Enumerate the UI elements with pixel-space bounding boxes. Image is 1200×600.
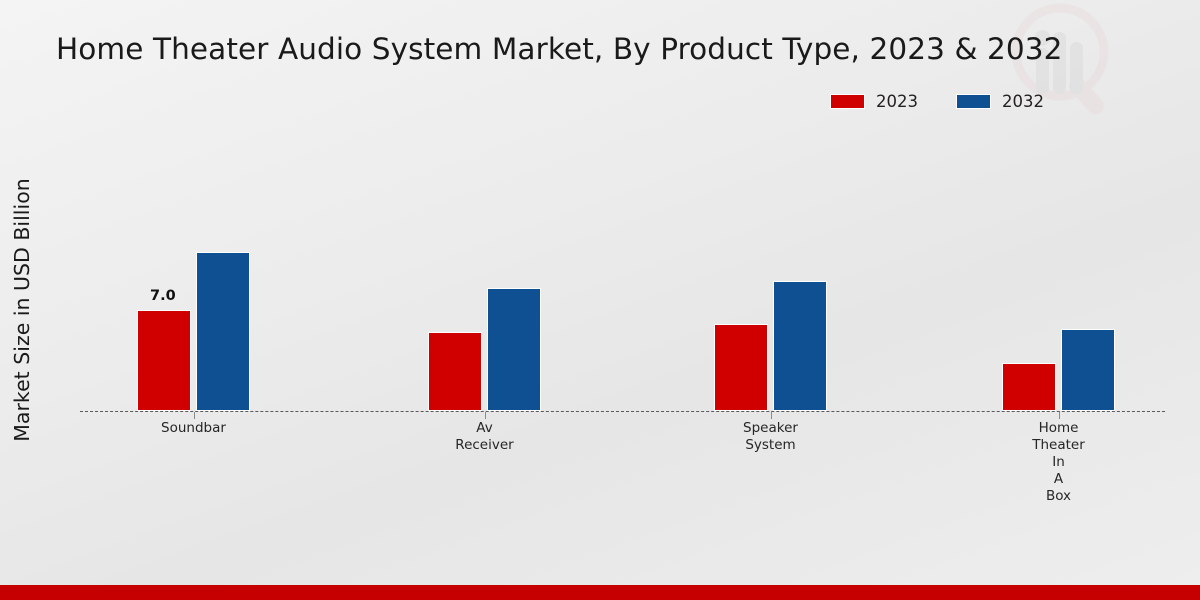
x-axis-label-home-theater-in-a-box: HomeTheaterInABox [969,420,1149,505]
x-axis-label-line: Av [395,420,575,437]
x-axis-label-soundbar: Soundbar [104,420,284,437]
x-axis-label-av-receiver: AvReceiver [395,420,575,454]
x-axis-label-line: Speaker [681,420,861,437]
bar-value-label: 7.0 [150,288,176,304]
chart-figure: Home Theater Audio System Market, By Pro… [0,0,1200,600]
bar-2032-speaker-system[interactable] [773,281,827,411]
bar-2032-av-receiver[interactable] [487,288,541,411]
x-axis-label-line: Receiver [395,437,575,454]
plot-area: 7.0SoundbarAvReceiverSpeakerSystemHomeTh… [0,0,1200,600]
x-axis-label-speaker-system: SpeakerSystem [681,420,861,454]
x-axis-label-line: Box [969,488,1149,505]
x-axis-tick [771,412,772,419]
bar-2032-home-theater-in-a-box[interactable] [1061,329,1115,411]
x-axis-label-line: Home [969,420,1149,437]
x-axis-label-line: In [969,454,1149,471]
bar-2032-soundbar[interactable] [196,252,250,411]
x-axis-label-line: System [681,437,861,454]
x-axis-tick [485,412,486,419]
x-axis-label-line: Soundbar [104,420,284,437]
x-axis-baseline [80,411,1165,412]
bar-2023-soundbar[interactable] [137,310,191,411]
x-axis-label-line: Theater [969,437,1149,454]
bar-2023-speaker-system[interactable] [714,324,768,411]
bottom-accent-strip [0,585,1200,600]
x-axis-tick [1059,412,1060,419]
bar-2023-home-theater-in-a-box[interactable] [1002,363,1056,411]
x-axis-label-line: A [969,471,1149,488]
bar-2023-av-receiver[interactable] [428,332,482,411]
x-axis-tick [194,412,195,419]
